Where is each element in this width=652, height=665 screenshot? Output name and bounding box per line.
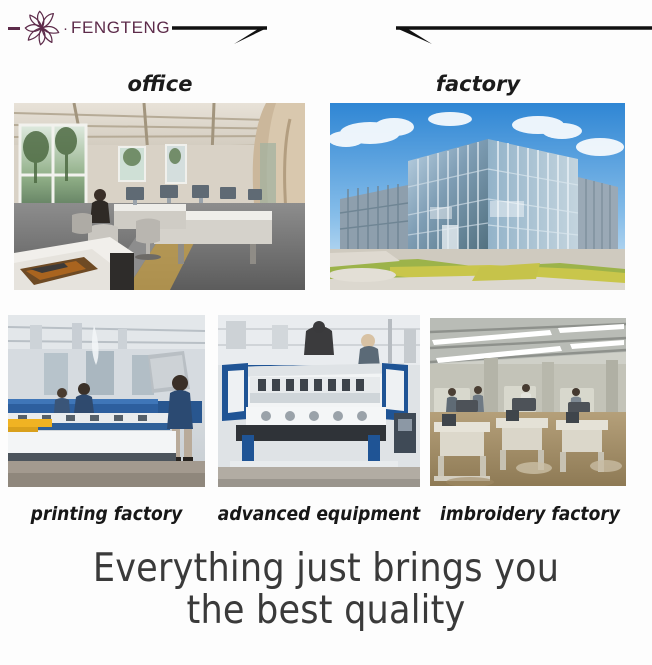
brand-lockup: · FENGTENG: [8, 8, 170, 48]
tagline-line-2: the best quality: [0, 590, 652, 632]
tagline-line-1: Everything just brings you: [0, 548, 652, 590]
advanced-equipment-photo: [218, 315, 420, 487]
brand-separator-dot: ·: [63, 21, 68, 36]
arrow-left-rule-icon: [388, 24, 652, 46]
embroidery-factory-photo: [430, 318, 626, 486]
arrow-right-rule-icon: [172, 24, 272, 46]
brand-left-dash-icon: [8, 27, 20, 30]
caption-embroidery-factory: imbroidery factory: [432, 503, 628, 525]
tagline: Everything just brings you the best qual…: [0, 548, 652, 632]
caption-office: office: [14, 72, 306, 96]
pinwheel-logo-icon: [23, 9, 61, 47]
caption-factory: factory: [330, 72, 626, 96]
office-interior-photo: [14, 103, 305, 290]
promo-banner: · FENGTENG office factory: [0, 0, 652, 665]
banner-header: · FENGTENG: [0, 0, 652, 62]
factory-building-photo: [330, 103, 625, 290]
caption-advanced-equipment: advanced equipment: [214, 503, 424, 525]
brand-name: FENGTENG: [71, 18, 170, 38]
caption-printing-factory: printing factory: [8, 503, 205, 525]
printing-factory-photo: [8, 315, 205, 487]
